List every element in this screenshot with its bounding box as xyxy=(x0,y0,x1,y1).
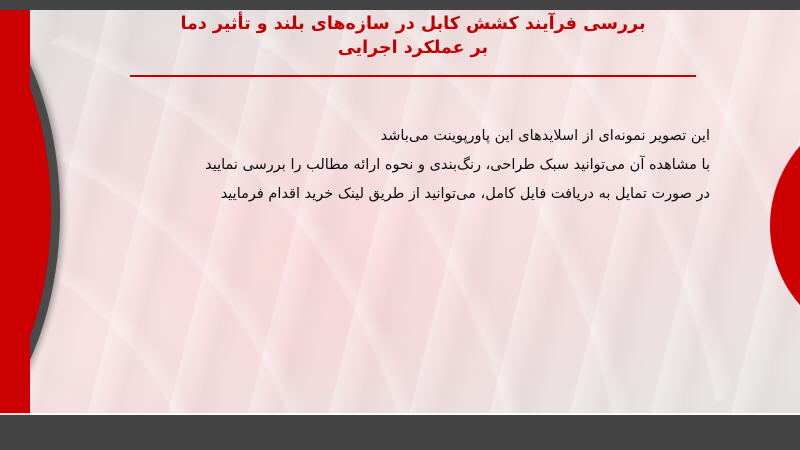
body-line-1: این تصویر نمونه‌ای از اسلایدهای این پاور… xyxy=(120,122,710,151)
slide-body-text: این تصویر نمونه‌ای از اسلایدهای این پاور… xyxy=(120,122,710,209)
background-arc-bands xyxy=(0,10,800,415)
slide-title-line-1: بررسی فرآیند کشش کابل در سازه‌های بلند و… xyxy=(130,12,696,36)
presentation-slide: بررسی فرآیند کشش کابل در سازه‌های بلند و… xyxy=(0,0,800,450)
body-line-3: در صورت تمایل به دریافت فایل کامل، می‌تو… xyxy=(120,180,710,209)
frame-band-top xyxy=(0,0,800,10)
body-line-2: با مشاهده آن می‌توانید سبک طراحی، رنگ‌بن… xyxy=(120,151,710,180)
background-diagonal-bands xyxy=(0,10,800,415)
title-divider-rule xyxy=(130,75,696,77)
frame-band-bottom xyxy=(0,415,800,450)
slide-title-line-2: بر عملکرد اجرایی xyxy=(130,36,696,60)
background-pink-wash xyxy=(0,10,800,415)
slide-title: بررسی فرآیند کشش کابل در سازه‌های بلند و… xyxy=(130,12,696,60)
decorative-red-fill-left xyxy=(0,0,30,450)
slide-background-panel xyxy=(0,10,800,415)
